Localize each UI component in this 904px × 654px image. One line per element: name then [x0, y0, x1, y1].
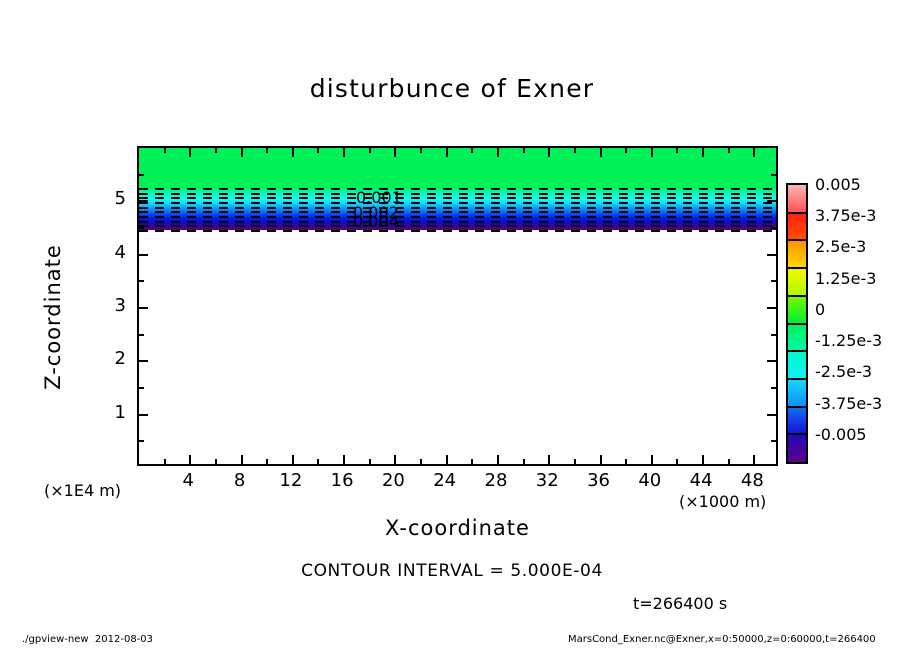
colorbar-label-6: -2.5e-3 [815, 362, 872, 381]
x-axis-unit-label: (×1000 m) [679, 492, 766, 511]
x-tick-top-16 [343, 148, 345, 157]
y-tick-5 [139, 200, 148, 202]
x-tick-label-44: 44 [679, 470, 723, 491]
x-tick-top-40 [651, 148, 653, 157]
x-tick-top-46 [728, 148, 730, 153]
y-tick-2 [139, 360, 148, 362]
colorbar-band-0 [788, 185, 806, 213]
fill-region-green [139, 148, 776, 188]
y-tick-1 [139, 414, 148, 416]
colorbar-band-4 [788, 296, 806, 324]
colorbar-label-4: 0 [815, 300, 825, 319]
colorbar-label-8: -0.005 [815, 425, 867, 444]
x-tick-label-12: 12 [269, 470, 313, 491]
x-tick-top-36 [600, 148, 602, 157]
colorbar-separator-4 [788, 295, 806, 297]
page-title: disturbunce of Exner [0, 74, 904, 103]
colorbar-band-5 [788, 324, 806, 352]
x-tick-32 [548, 455, 550, 464]
y-tick-label-4: 4 [96, 242, 126, 263]
contour-line [139, 216, 776, 218]
y-axis-unit-label: (×1E4 m) [44, 481, 121, 500]
y-tick-label-1: 1 [96, 402, 126, 423]
x-tick-top-44 [702, 148, 704, 157]
x-tick-2 [164, 459, 166, 464]
x-tick-38 [625, 459, 627, 464]
x-tick-18 [369, 459, 371, 464]
y-tick-right-0.5 [771, 440, 776, 442]
colorbar-separator-7 [788, 378, 806, 380]
x-tick-36 [600, 455, 602, 464]
x-tick-label-8: 8 [218, 470, 262, 491]
x-tick-top-4 [189, 148, 191, 157]
time-stamp: t=266400 s [633, 594, 727, 613]
x-tick-22 [420, 459, 422, 464]
y-tick-right-4 [767, 254, 776, 256]
chart-canvas: disturbunce of Exner 0.001 0.002 0.004 4… [0, 0, 904, 654]
x-tick-46 [728, 459, 730, 464]
x-tick-42 [676, 459, 678, 464]
y-tick-0.5 [139, 440, 144, 442]
x-tick-label-4: 4 [166, 470, 210, 491]
colorbar-separator-2 [788, 239, 806, 241]
contour-label-3: 0.004 [353, 212, 399, 231]
colorbar-band-8 [788, 407, 806, 435]
x-tick-28 [497, 455, 499, 464]
x-tick-top-24 [446, 148, 448, 157]
x-tick-4 [189, 455, 191, 464]
x-tick-top-26 [471, 148, 473, 153]
y-tick-right-3.5 [771, 280, 776, 282]
y-tick-right-5 [767, 200, 776, 202]
colorbar-separator-1 [788, 212, 806, 214]
x-tick-20 [394, 455, 396, 464]
y-tick-4 [139, 254, 148, 256]
x-tick-top-10 [266, 148, 268, 153]
colorbar-separator-8 [788, 406, 806, 408]
x-tick-top-34 [574, 148, 576, 153]
x-tick-12 [292, 455, 294, 464]
y-tick-label-3: 3 [96, 295, 126, 316]
x-tick-label-48: 48 [730, 470, 774, 491]
x-tick-label-36: 36 [577, 470, 621, 491]
colorbar-label-1: 3.75e-3 [815, 206, 876, 225]
contour-line [139, 221, 776, 223]
colorbar-band-2 [788, 240, 806, 268]
colorbar-label-2: 2.5e-3 [815, 237, 866, 256]
y-tick-right-2 [767, 360, 776, 362]
y-tick-3.5 [139, 280, 144, 282]
x-tick-top-2 [164, 148, 166, 153]
x-tick-top-6 [215, 148, 217, 153]
colorbar-band-6 [788, 351, 806, 379]
contour-line [139, 230, 776, 232]
contour-line [139, 211, 776, 213]
footer-command: ./gpview-new 2012-08-03 [22, 634, 153, 645]
x-tick-label-40: 40 [628, 470, 672, 491]
colorbar-label-0: 0.005 [815, 175, 861, 194]
x-tick-label-20: 20 [371, 470, 415, 491]
colorbar-band-1 [788, 213, 806, 241]
x-tick-top-28 [497, 148, 499, 157]
contour-interval-note: CONTOUR INTERVAL = 5.000E-04 [0, 561, 904, 581]
colorbar-separator-6 [788, 350, 806, 352]
colorbar-band-7 [788, 379, 806, 407]
x-tick-10 [266, 459, 268, 464]
colorbar [786, 183, 808, 464]
y-tick-4.5 [139, 227, 144, 229]
x-tick-top-42 [676, 148, 678, 153]
x-tick-14 [317, 459, 319, 464]
x-tick-label-16: 16 [320, 470, 364, 491]
y-tick-3 [139, 307, 148, 309]
x-tick-label-28: 28 [474, 470, 518, 491]
x-tick-24 [446, 455, 448, 464]
y-tick-right-1.5 [771, 387, 776, 389]
x-tick-top-20 [394, 148, 396, 157]
contour-line [139, 225, 776, 227]
x-tick-top-14 [317, 148, 319, 153]
contour-line [139, 197, 776, 199]
colorbar-separator-9 [788, 433, 806, 435]
y-tick-5.5 [139, 174, 144, 176]
x-tick-30 [523, 459, 525, 464]
x-tick-26 [471, 459, 473, 464]
colorbar-label-3: 1.25e-3 [815, 269, 876, 288]
x-tick-label-32: 32 [525, 470, 569, 491]
footer-source: MarsCond_Exner.nc@Exner,x=0:50000,z=0:60… [568, 634, 876, 645]
plot-area [137, 146, 778, 466]
y-tick-right-1 [767, 414, 776, 416]
colorbar-label-7: -3.75e-3 [815, 394, 882, 413]
colorbar-band-3 [788, 268, 806, 296]
x-tick-34 [574, 459, 576, 464]
colorbar-separator-3 [788, 267, 806, 269]
x-axis-title: X-coordinate [137, 516, 778, 540]
x-tick-48 [753, 455, 755, 464]
y-axis-title: Z-coordinate [41, 207, 65, 427]
x-tick-6 [215, 459, 217, 464]
y-tick-1.5 [139, 387, 144, 389]
x-tick-top-38 [625, 148, 627, 153]
x-tick-label-24: 24 [423, 470, 467, 491]
x-tick-40 [651, 455, 653, 464]
x-tick-top-48 [753, 148, 755, 157]
y-tick-right-3 [767, 307, 776, 309]
x-tick-top-8 [241, 148, 243, 157]
x-tick-8 [241, 455, 243, 464]
y-tick-label-2: 2 [96, 348, 126, 369]
contour-line [139, 207, 776, 209]
x-tick-44 [702, 455, 704, 464]
y-tick-right-4.5 [771, 227, 776, 229]
colorbar-band-9 [788, 434, 806, 462]
x-tick-top-18 [369, 148, 371, 153]
x-tick-top-22 [420, 148, 422, 153]
contour-line [139, 202, 776, 204]
x-tick-16 [343, 455, 345, 464]
y-tick-2.5 [139, 334, 144, 336]
contour-line [139, 193, 776, 195]
x-tick-top-30 [523, 148, 525, 153]
colorbar-separator-5 [788, 323, 806, 325]
x-tick-top-12 [292, 148, 294, 157]
x-tick-top-32 [548, 148, 550, 157]
contour-line [139, 188, 776, 190]
y-tick-label-5: 5 [96, 188, 126, 209]
colorbar-label-5: -1.25e-3 [815, 331, 882, 350]
y-tick-right-5.5 [771, 174, 776, 176]
y-tick-right-2.5 [771, 334, 776, 336]
